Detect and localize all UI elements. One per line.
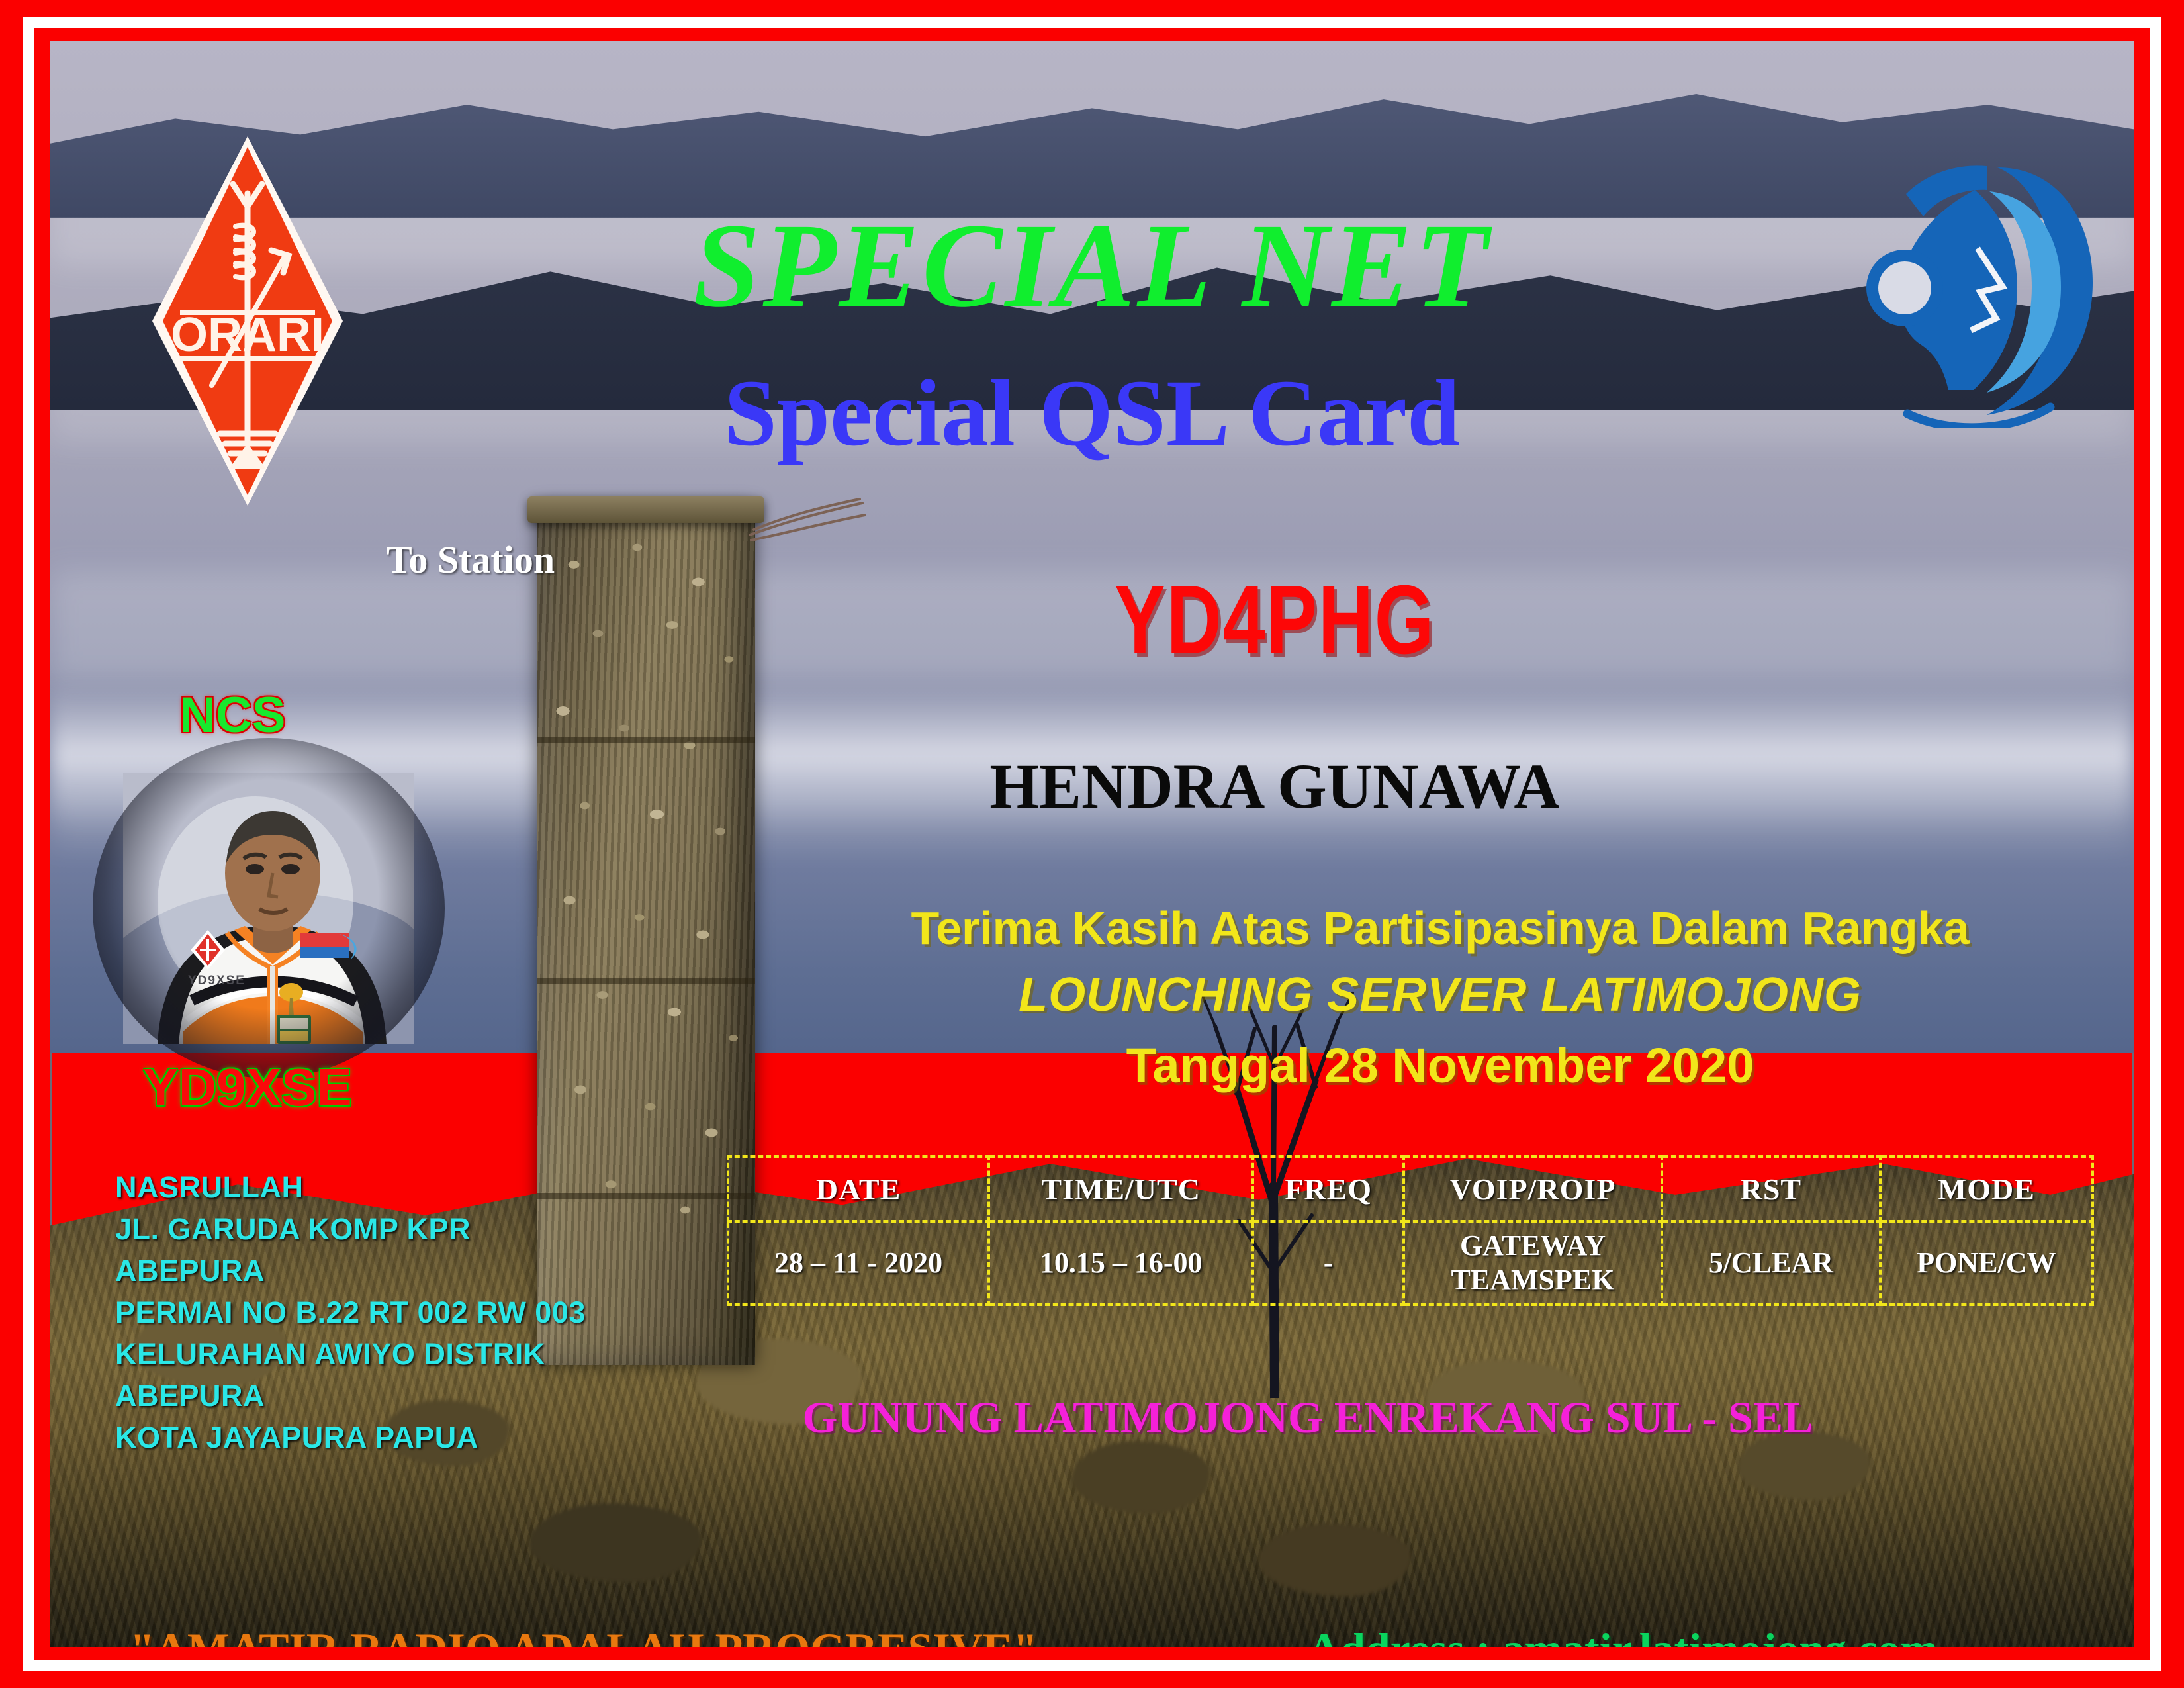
- footer-motto: "AMATIR RADIO ADALAH PROGRESIVE": [130, 1623, 1038, 1647]
- address-line: ABEPURA: [115, 1375, 586, 1417]
- photo-vignette: [93, 738, 445, 1078]
- cell-date: 28 – 11 - 2020: [728, 1221, 989, 1305]
- cell-voip-line1: GATEWAY: [1406, 1229, 1660, 1263]
- event-name-line: LOUNCHING SERVER LATIMOJONG: [811, 968, 2069, 1022]
- address-line: KELURAHAN AWIYO DISTRIK: [115, 1333, 586, 1375]
- cell-rst: 5/CLEAR: [1662, 1221, 1880, 1305]
- pillar-mortar-band: [537, 737, 755, 743]
- ncs-callsign: YD9XSE: [143, 1057, 352, 1118]
- cell-mode: PONE/CW: [1880, 1221, 2093, 1305]
- location-text: GUNUNG LATIMOJONG ENREKANG SUL - SEL: [679, 1391, 1936, 1444]
- recipient-callsign: YD4PHG: [965, 564, 1584, 677]
- table-header-rst: RST: [1662, 1156, 1880, 1221]
- operator-name: HENDRA GUNAWA: [811, 749, 1738, 823]
- table-header-voip: VOIP/ROIP: [1404, 1156, 1662, 1221]
- ncs-label: NCS: [179, 686, 285, 744]
- footer-web-address: Address : amatir.latimojong.com: [1308, 1623, 1938, 1647]
- table-header-date: DATE: [728, 1156, 989, 1221]
- cell-time: 10.15 – 16-00: [989, 1221, 1253, 1305]
- address-line: JL. GARUDA KOMP KPR: [115, 1208, 586, 1250]
- address-line: ABEPURA: [115, 1250, 586, 1291]
- page-subtitle-qsl-card: Special QSL Card: [50, 359, 2134, 468]
- address-line: NASRULLAH: [115, 1166, 586, 1208]
- pillar-cap: [527, 496, 764, 523]
- qso-log-table: DATE TIME/UTC FREQ VOIP/ROIP RST MODE 28…: [727, 1155, 2094, 1306]
- cell-voip-roip: GATEWAY TEAMSPEK: [1404, 1221, 1662, 1305]
- table-header-row: DATE TIME/UTC FREQ VOIP/ROIP RST MODE: [728, 1156, 2093, 1221]
- pillar-mortar-band: [537, 978, 755, 984]
- address-line: KOTA JAYAPURA PAPUA: [115, 1417, 586, 1458]
- ncs-address-block: NASRULLAH JL. GARUDA KOMP KPR ABEPURA PE…: [115, 1166, 586, 1458]
- page-title-special-net: SPECIAL NET: [50, 197, 2134, 335]
- table-header-freq: FREQ: [1253, 1156, 1404, 1221]
- cell-freq: -: [1253, 1221, 1404, 1305]
- to-station-label: To Station: [387, 538, 555, 582]
- table-row: 28 – 11 - 2020 10.15 – 16-00 - GATEWAY T…: [728, 1221, 2093, 1305]
- thanks-message-line1: Terima Kasih Atas Partisipasinya Dalam R…: [811, 902, 2069, 955]
- table-header-mode: MODE: [1880, 1156, 2093, 1221]
- event-date-line: Tanggal 28 November 2020: [811, 1037, 2069, 1094]
- address-line: PERMAI NO B.22 RT 002 RW 003: [115, 1291, 586, 1333]
- cell-voip-line2: TEAMSPEK: [1406, 1263, 1660, 1297]
- pillar-twigs: [749, 498, 868, 544]
- table-header-time: TIME/UTC: [989, 1156, 1253, 1221]
- qsl-card: ORARI: [0, 0, 2184, 1688]
- ncs-operator-photo: YD9XSE: [123, 773, 414, 1044]
- card-background-photo: ORARI: [50, 41, 2134, 1647]
